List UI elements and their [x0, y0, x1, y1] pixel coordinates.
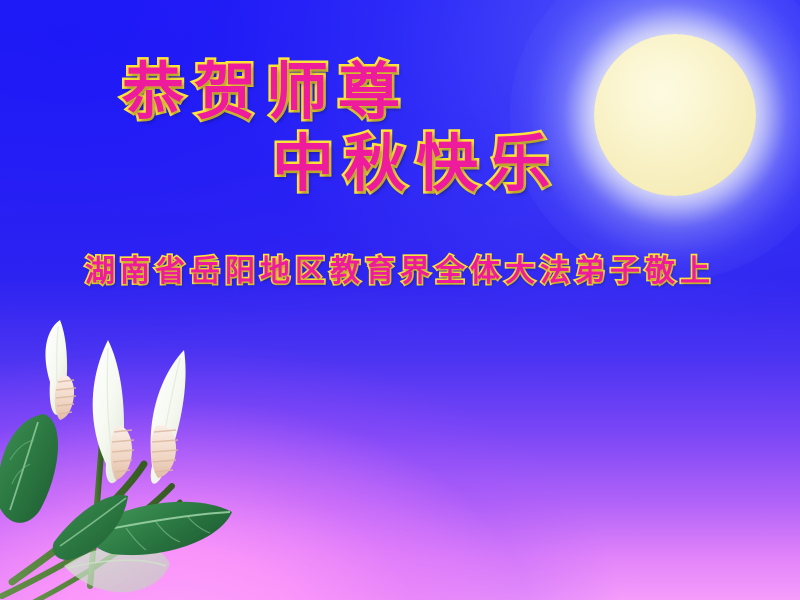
- greeting-line-1: 恭贺师尊: [0, 56, 800, 128]
- leaf-left: [0, 414, 58, 523]
- peace-lily-3: [151, 350, 186, 484]
- peace-lily-bouquet: [0, 314, 284, 600]
- greeting-card: 恭贺师尊 中秋快乐 湖南省岳阳地区教育界全体大法弟子敬上: [0, 0, 800, 600]
- greeting-title: 恭贺师尊 中秋快乐: [0, 56, 800, 200]
- peace-lily-1: [45, 320, 76, 420]
- greeting-line-2: 中秋快乐: [0, 128, 800, 200]
- signature-line: 湖南省岳阳地区教育界全体大法弟子敬上: [0, 252, 800, 292]
